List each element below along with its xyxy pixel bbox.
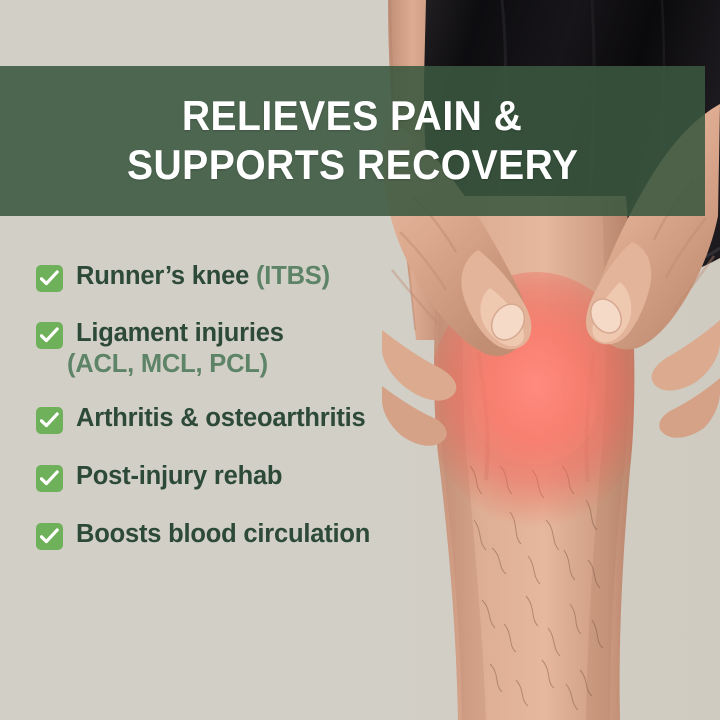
list-item-label: Arthritis & osteoarthritis [76, 404, 436, 433]
list-item-sub-label: (ACL, MCL, PCL) [67, 349, 436, 380]
header-banner: RELIEVES PAIN & SUPPORTS RECOVERY [0, 66, 705, 216]
list-item: Runner’s knee (ITBS) [36, 262, 436, 291]
list-item-main-text: Runner’s knee [76, 262, 256, 290]
check-icon [36, 407, 63, 434]
list-item: Post-injury rehab [36, 462, 436, 491]
list-item: Arthritis & osteoarthritis [36, 404, 436, 433]
check-icon [36, 523, 63, 550]
list-item: Ligament injuries (ACL, MCL, PCL) [36, 319, 436, 380]
benefits-checklist: Runner’s knee (ITBS) Ligament injuries (… [36, 262, 436, 549]
list-item-label: Runner’s knee (ITBS) [76, 262, 436, 291]
list-item: Boosts blood circulation [36, 520, 436, 549]
promo-poster: RELIEVES PAIN & SUPPORTS RECOVERY Runner… [0, 0, 720, 720]
list-item-label: Post-injury rehab [76, 462, 436, 491]
check-icon [36, 265, 63, 292]
list-item-label: Ligament injuries [76, 319, 436, 348]
list-item-accent-text: (ITBS) [256, 262, 330, 290]
list-item-label: Boosts blood circulation [76, 520, 436, 549]
check-icon [36, 465, 63, 492]
check-icon [36, 322, 63, 349]
banner-title-line-1: RELIEVES PAIN & [182, 92, 522, 141]
banner-title-line-2: SUPPORTS RECOVERY [127, 141, 578, 190]
